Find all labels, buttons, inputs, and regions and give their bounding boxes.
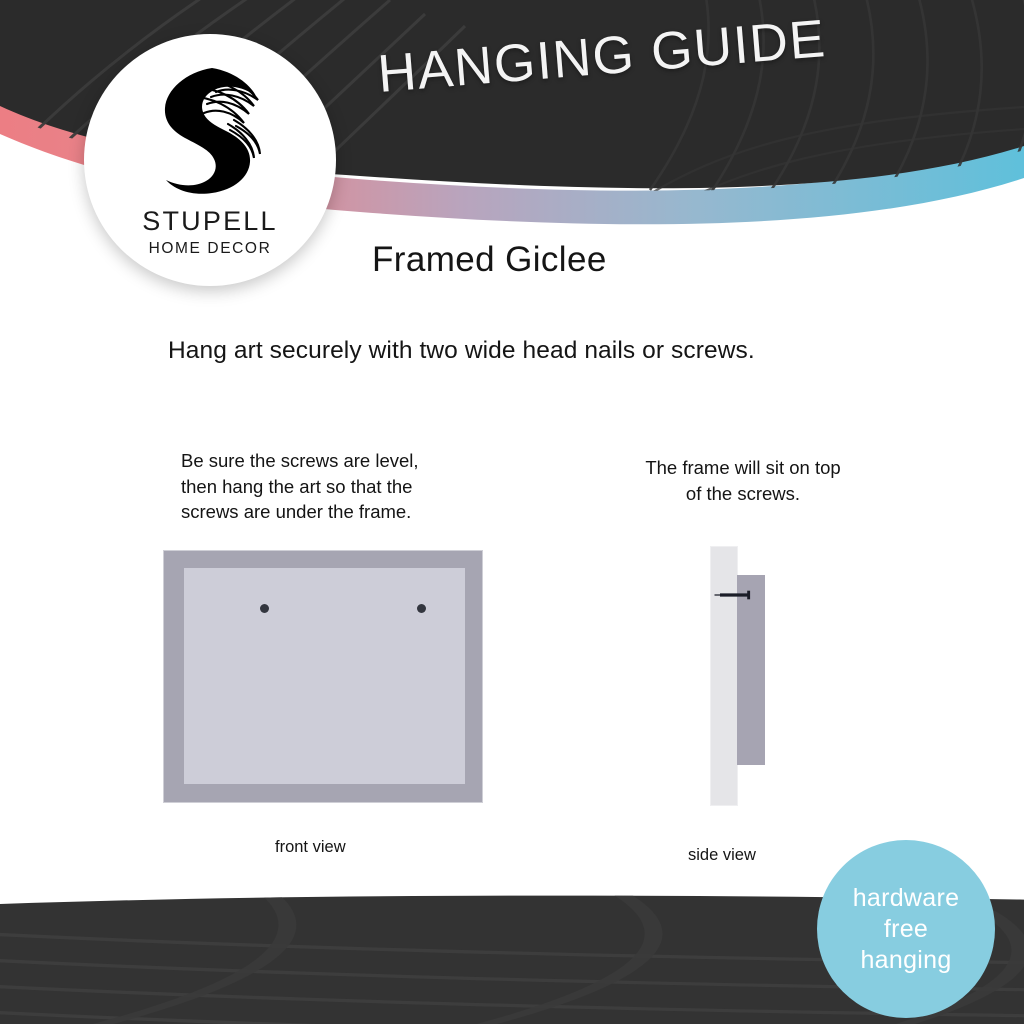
stupell-swoosh-logo-icon [150, 60, 270, 200]
side-caption-line-1: The frame will sit on top [612, 455, 874, 481]
front-caption-line-1: Be sure the screws are level, [181, 448, 481, 474]
badge-line-2: free [884, 914, 928, 945]
side-caption-line-2: of the screws. [612, 481, 874, 507]
front-view-art-panel [184, 568, 465, 784]
brand-tagline: HOME DECOR [84, 240, 336, 258]
hardware-free-hanging-badge: hardware free hanging [817, 840, 995, 1018]
nail-icon [714, 590, 754, 600]
screw-hole-right [417, 604, 426, 613]
side-view-label: side view [688, 846, 756, 865]
side-view-frame [737, 575, 765, 765]
side-view-caption: The frame will sit on top of the screws. [612, 455, 874, 506]
brand-logo-badge: STUPELL HOME DECOR [84, 34, 336, 286]
product-title: Framed Giclee [372, 240, 607, 280]
lede-text: Hang art securely with two wide head nai… [168, 337, 755, 365]
front-caption-line-2: then hang the art so that the [181, 474, 481, 500]
front-caption-line-3: screws are under the frame. [181, 499, 481, 525]
badge-line-3: hanging [860, 945, 951, 976]
brand-name: STUPELL [84, 206, 336, 237]
front-view-label: front view [275, 838, 346, 857]
hanging-guide-infographic: STUPELL HOME DECOR HANGING GUIDE Framed … [0, 0, 1024, 1024]
front-view-caption: Be sure the screws are level, then hang … [181, 448, 481, 525]
side-view-diagram [708, 546, 778, 808]
side-view-wall [710, 546, 738, 806]
screw-hole-left [260, 604, 269, 613]
front-view-diagram [163, 550, 483, 803]
badge-line-1: hardware [853, 883, 960, 914]
